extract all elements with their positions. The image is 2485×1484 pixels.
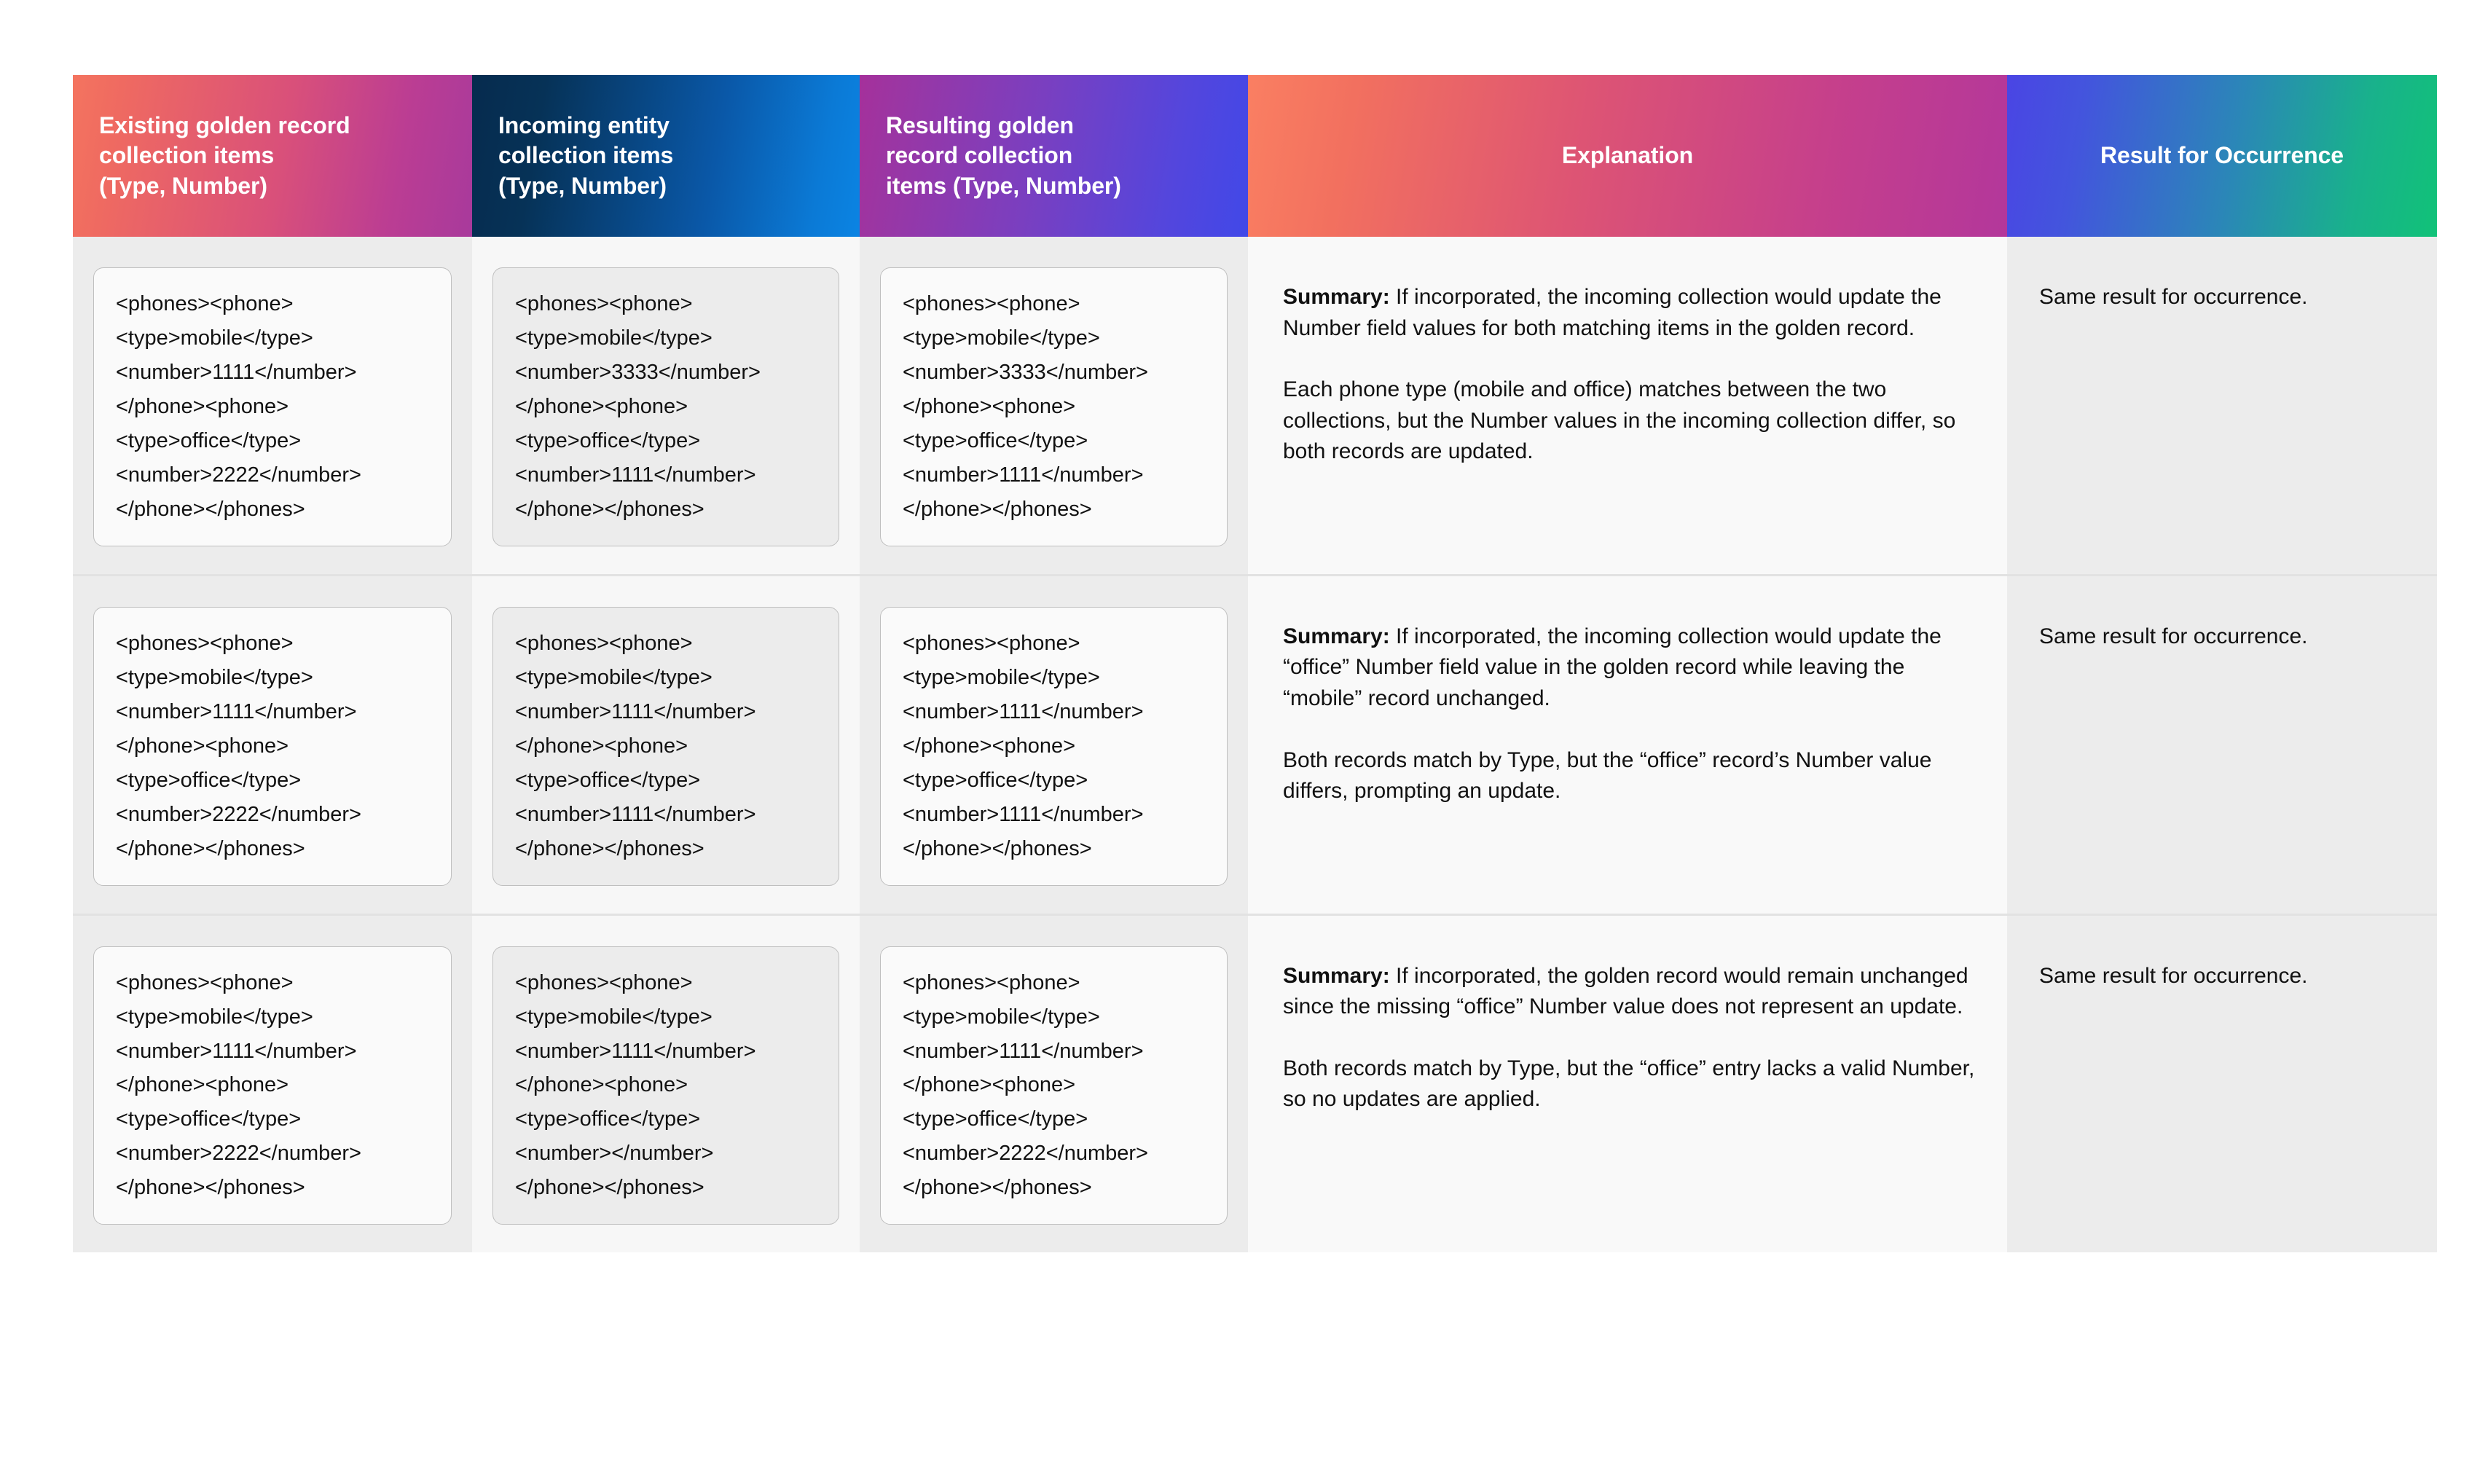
summary-label: Summary: — [1283, 285, 1390, 309]
table-body: <phones><phone> <type>mobile</type> <num… — [73, 237, 2437, 1252]
xml-snippet-resulting: <phones><phone> <type>mobile</type> <num… — [880, 946, 1228, 1225]
cell-resulting-golden-record: <phones><phone> <type>mobile</type> <num… — [860, 916, 1248, 1253]
column-header-line: Resulting golden — [886, 111, 1222, 141]
xml-snippet-resulting: <phones><phone> <type>mobile</type> <num… — [880, 607, 1228, 886]
cell-incoming-entity: <phones><phone> <type>mobile</type> <num… — [472, 576, 860, 914]
column-header-line: items (Type, Number) — [886, 171, 1222, 202]
cell-resulting-golden-record: <phones><phone> <type>mobile</type> <num… — [860, 237, 1248, 574]
cell-incoming-entity: <phones><phone> <type>mobile</type> <num… — [472, 916, 860, 1253]
column-header-existing-golden-record: Existing golden record collection items … — [73, 75, 472, 237]
column-header-line: Result for Occurrence — [2100, 141, 2344, 171]
occurrence-result-text: Same result for occurrence. — [2039, 282, 2405, 313]
explanation-detail-paragraph: Both records match by Type, but the “off… — [1283, 745, 1978, 807]
xml-snippet-existing: <phones><phone> <type>mobile</type> <num… — [93, 946, 452, 1225]
column-header-line: collection items — [99, 141, 446, 171]
column-header-line: Explanation — [1562, 141, 1693, 171]
summary-label: Summary: — [1283, 624, 1390, 648]
column-header-line: Existing golden record — [99, 111, 446, 141]
cell-resulting-golden-record: <phones><phone> <type>mobile</type> <num… — [860, 576, 1248, 914]
xml-snippet-incoming: <phones><phone> <type>mobile</type> <num… — [492, 607, 839, 886]
comparison-matrix-page: Existing golden record collection items … — [0, 0, 2485, 1484]
column-header-line: Incoming entity — [498, 111, 833, 141]
cell-result-for-occurrence: Same result for occurrence. — [2007, 916, 2437, 1253]
explanation-summary-paragraph: Summary: If incorporated, the golden rec… — [1283, 961, 1978, 1023]
column-header-resulting-golden-record: Resulting golden record collection items… — [860, 75, 1248, 237]
explanation-summary-paragraph: Summary: If incorporated, the incoming c… — [1283, 282, 1978, 344]
column-header-explanation: Explanation — [1248, 75, 2007, 237]
explanation-detail-paragraph: Both records match by Type, but the “off… — [1283, 1053, 1978, 1115]
summary-label: Summary: — [1283, 964, 1390, 988]
column-header-line: record collection — [886, 141, 1222, 171]
xml-snippet-resulting: <phones><phone> <type>mobile</type> <num… — [880, 267, 1228, 546]
table-row: <phones><phone> <type>mobile</type> <num… — [73, 916, 2437, 1253]
cell-existing-golden-record: <phones><phone> <type>mobile</type> <num… — [73, 916, 472, 1253]
table-header-row: Existing golden record collection items … — [73, 75, 2437, 237]
explanation-detail-paragraph: Each phone type (mobile and office) matc… — [1283, 374, 1978, 468]
xml-snippet-existing: <phones><phone> <type>mobile</type> <num… — [93, 267, 452, 546]
explanation-summary-paragraph: Summary: If incorporated, the incoming c… — [1283, 621, 1978, 715]
xml-snippet-incoming: <phones><phone> <type>mobile</type> <num… — [492, 946, 839, 1225]
cell-result-for-occurrence: Same result for occurrence. — [2007, 237, 2437, 574]
occurrence-result-text: Same result for occurrence. — [2039, 961, 2405, 992]
column-header-line: collection items — [498, 141, 833, 171]
cell-explanation: Summary: If incorporated, the golden rec… — [1248, 916, 2007, 1253]
column-header-line: (Type, Number) — [498, 171, 833, 202]
xml-snippet-incoming: <phones><phone> <type>mobile</type> <num… — [492, 267, 839, 546]
occurrence-result-text: Same result for occurrence. — [2039, 621, 2405, 652]
column-header-line: (Type, Number) — [99, 171, 446, 202]
cell-explanation: Summary: If incorporated, the incoming c… — [1248, 237, 2007, 574]
column-header-incoming-entity: Incoming entity collection items (Type, … — [472, 75, 860, 237]
cell-result-for-occurrence: Same result for occurrence. — [2007, 576, 2437, 914]
column-header-result-for-occurrence: Result for Occurrence — [2007, 75, 2437, 237]
cell-existing-golden-record: <phones><phone> <type>mobile</type> <num… — [73, 237, 472, 574]
cell-incoming-entity: <phones><phone> <type>mobile</type> <num… — [472, 237, 860, 574]
merge-rules-table: Existing golden record collection items … — [73, 75, 2437, 1252]
cell-explanation: Summary: If incorporated, the incoming c… — [1248, 576, 2007, 914]
cell-existing-golden-record: <phones><phone> <type>mobile</type> <num… — [73, 576, 472, 914]
xml-snippet-existing: <phones><phone> <type>mobile</type> <num… — [93, 607, 452, 886]
table-row: <phones><phone> <type>mobile</type> <num… — [73, 237, 2437, 576]
table-row: <phones><phone> <type>mobile</type> <num… — [73, 576, 2437, 916]
